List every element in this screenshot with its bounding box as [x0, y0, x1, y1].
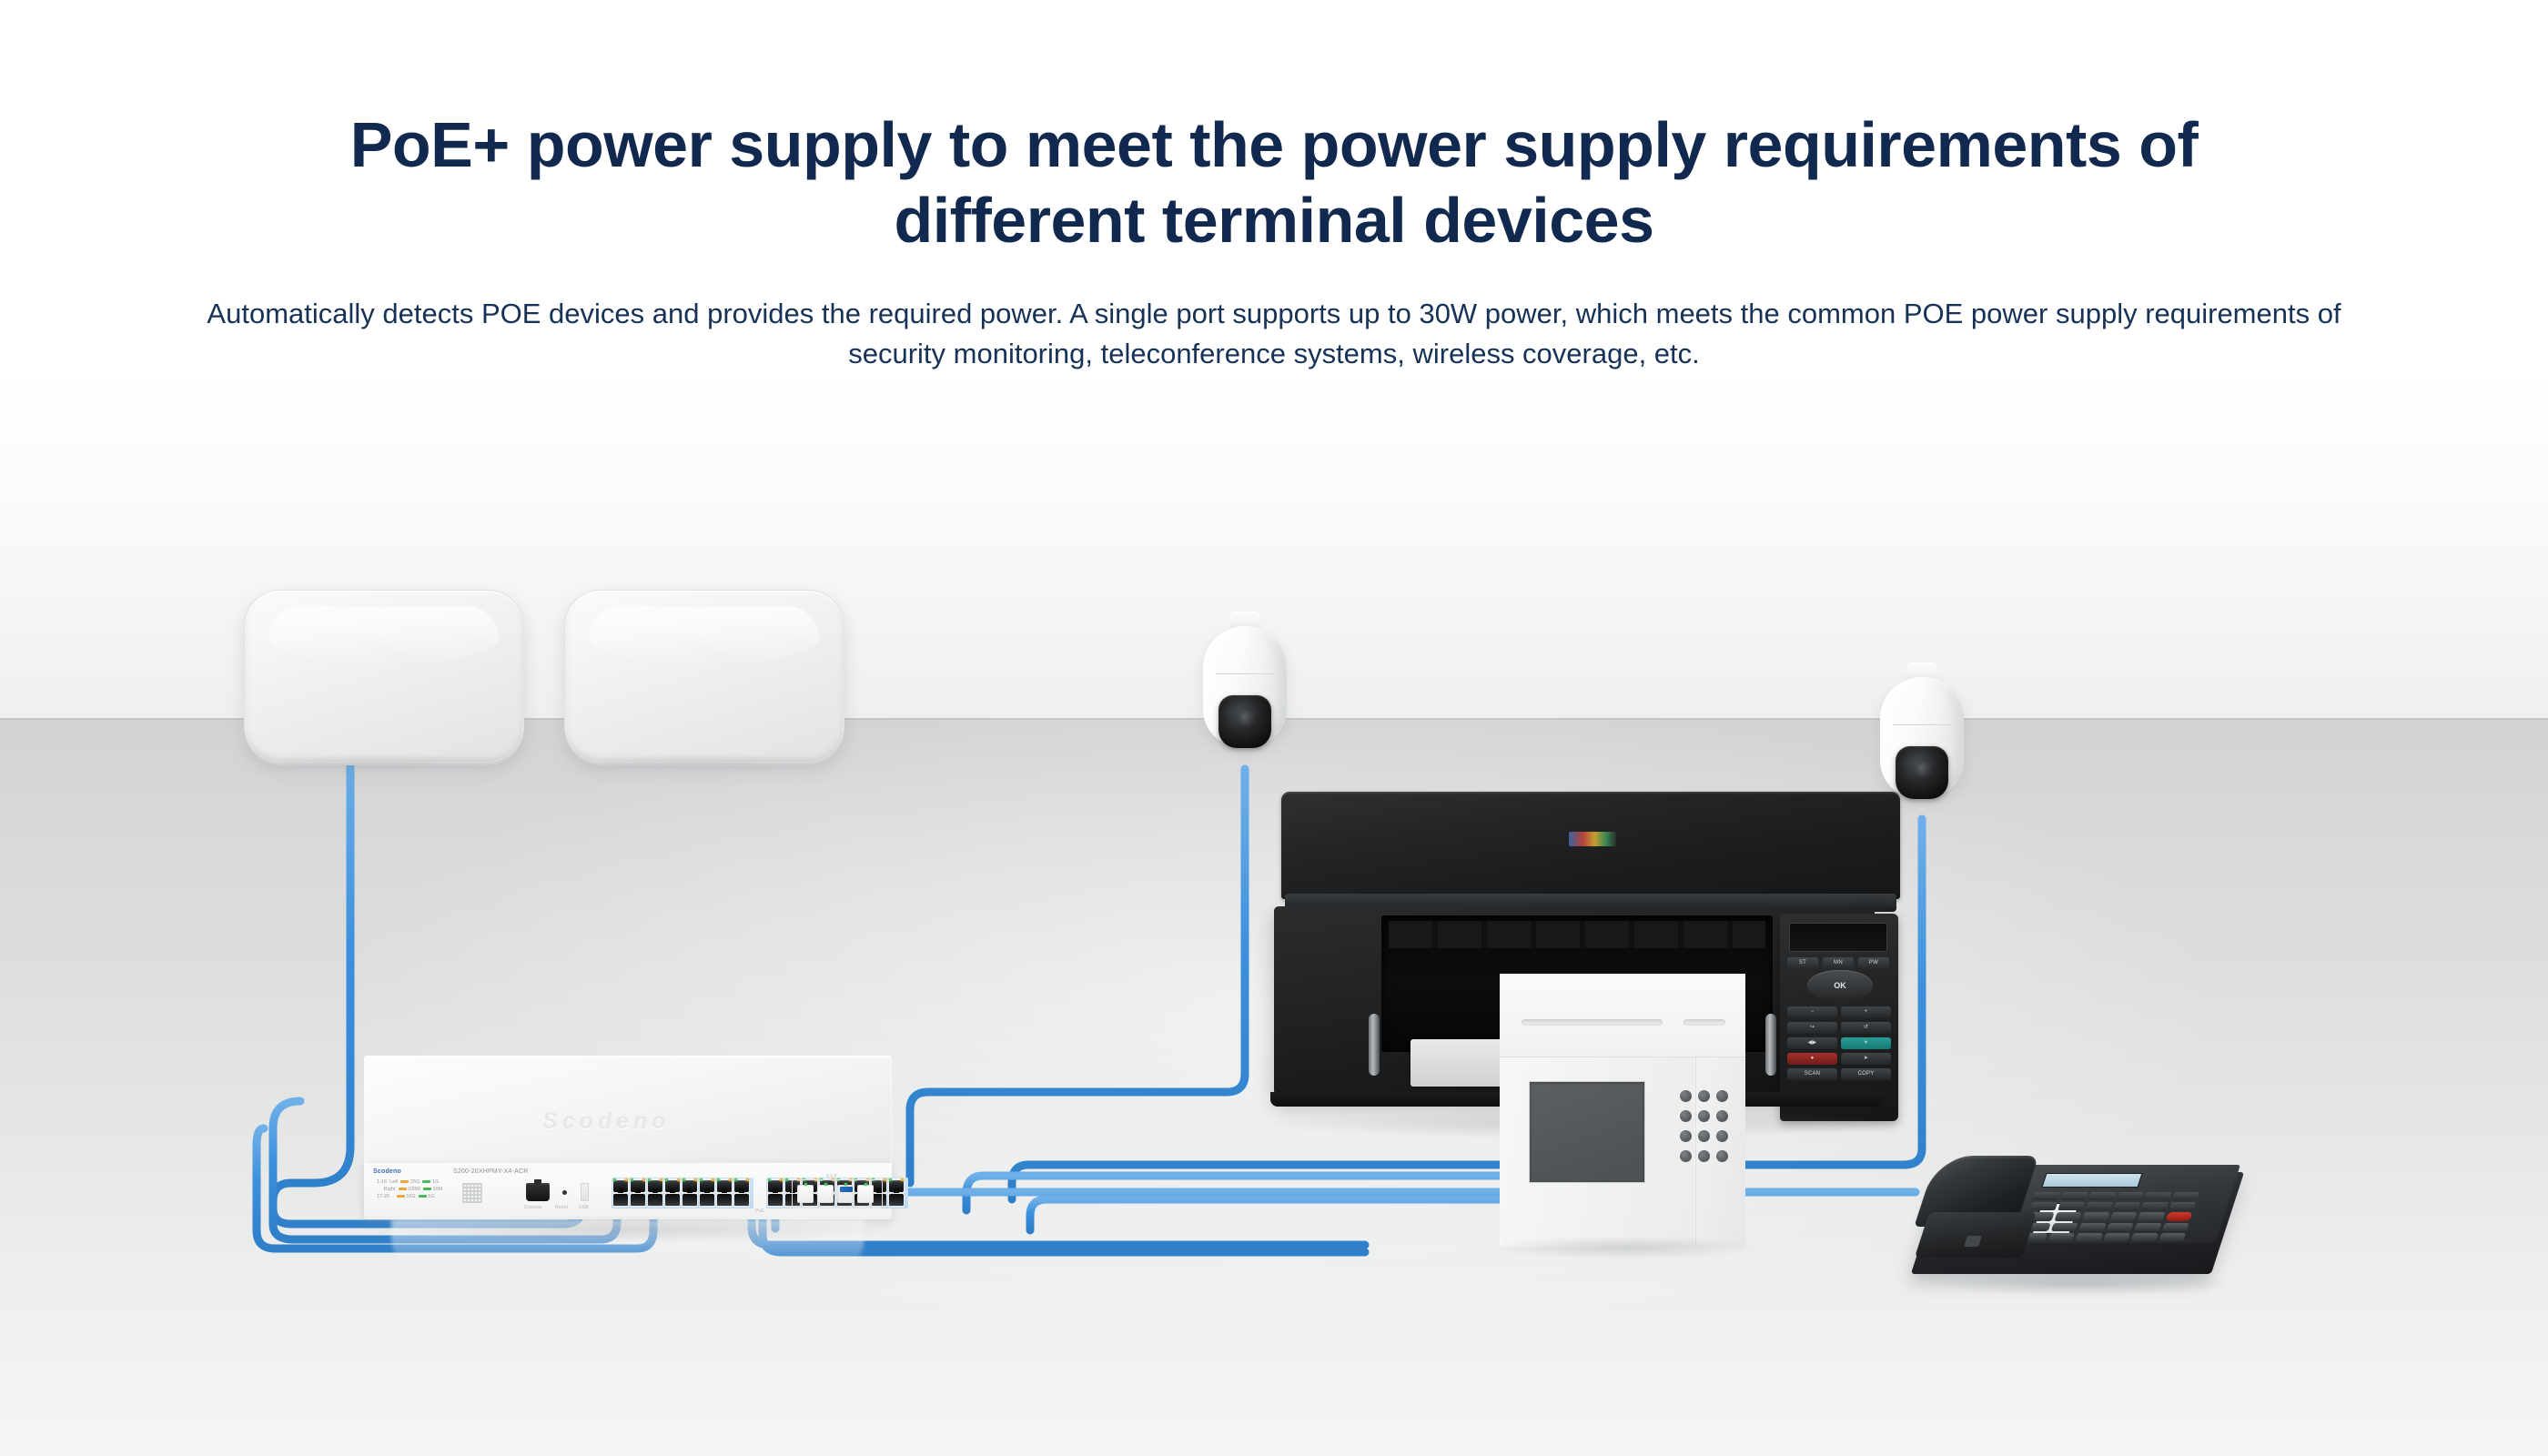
rj45-icon	[613, 1194, 628, 1206]
printer-scanner-lid	[1281, 792, 1900, 899]
port-led-green	[631, 1178, 633, 1181]
terminal-key[interactable]	[1716, 1090, 1728, 1102]
terminal-vent-slot-1	[1522, 1019, 1663, 1026]
port-led-amber	[694, 1178, 697, 1181]
phone-key[interactable]	[2106, 1223, 2133, 1231]
ap-body	[244, 590, 524, 763]
terminal-vent-slot-2	[1683, 1019, 1725, 1026]
printer-ok-dpad[interactable]: OK	[1807, 970, 1873, 1001]
camera-seam	[1216, 673, 1274, 674]
port-led-green	[768, 1178, 771, 1181]
phone-key[interactable]	[2103, 1233, 2130, 1241]
switch-port[interactable]	[612, 1178, 629, 1208]
video-conference-terminal[interactable]	[1500, 974, 1745, 1247]
terminal-screen[interactable]	[1529, 1081, 1645, 1183]
port-led-green	[717, 1178, 720, 1181]
switch-shadow	[355, 1216, 901, 1243]
phone-key[interactable]	[2144, 1192, 2171, 1200]
port-led-amber	[729, 1178, 732, 1181]
phone-keypad[interactable]	[2019, 1192, 2199, 1241]
legend-side-1: Left	[389, 1179, 398, 1185]
printer-key-back[interactable]: ↪	[1787, 1022, 1837, 1034]
phone-key[interactable]	[2138, 1212, 2165, 1220]
sfp-slot-populated[interactable]	[837, 1185, 854, 1203]
printer-key-stop[interactable]: ●	[1787, 1053, 1837, 1065]
rj45-icon	[682, 1180, 697, 1192]
phone-key[interactable]	[2088, 1192, 2116, 1200]
switch-usb-port[interactable]	[581, 1183, 589, 1201]
port-led-green	[700, 1178, 703, 1181]
phone-key[interactable]	[2029, 1202, 2057, 1210]
legend-amber-2: 100M	[408, 1187, 420, 1192]
switch-port[interactable]	[664, 1178, 681, 1208]
legend-chip-green-icon	[423, 1188, 431, 1190]
phone-key[interactable]	[2113, 1202, 2140, 1210]
switch-model-label: S200-20XHPMY-X4-ACR	[453, 1168, 529, 1175]
legend-green-1: 1G	[432, 1179, 439, 1185]
phone-key[interactable]	[2060, 1192, 2088, 1200]
printer-button-st[interactable]: ST	[1787, 957, 1818, 969]
cable-camera1	[910, 769, 1245, 1183]
port-led-amber	[677, 1178, 680, 1181]
ptz-camera-1[interactable]	[1203, 612, 1287, 771]
sfp-slot[interactable]	[797, 1185, 814, 1203]
port-led-amber	[712, 1178, 714, 1181]
phone-key[interactable]	[2050, 1223, 2078, 1231]
printer-brand-logo-icon	[1569, 832, 1616, 846]
terminal-key[interactable]	[1680, 1130, 1692, 1142]
terminal-key[interactable]	[1698, 1130, 1710, 1142]
switch-reset-caption: Reset	[555, 1205, 568, 1210]
phone-key[interactable]	[2161, 1223, 2189, 1231]
port-led-amber	[746, 1178, 749, 1181]
ap-body	[564, 590, 844, 763]
rj45-icon	[665, 1194, 680, 1206]
terminal-key[interactable]	[1680, 1110, 1692, 1122]
phone-key[interactable]	[2078, 1223, 2106, 1231]
port-led-green	[785, 1178, 788, 1181]
phone-key-hangup[interactable]	[2165, 1212, 2192, 1220]
cable-ap1	[273, 746, 350, 1208]
rj45-icon	[631, 1180, 645, 1192]
phone-key[interactable]	[2130, 1233, 2158, 1241]
switch-embossed-brand: Scodeno	[542, 1108, 770, 1134]
terminal-keypad[interactable]	[1680, 1090, 1729, 1162]
switch-port[interactable]	[733, 1178, 750, 1208]
printer-control-panel[interactable]: ST MN PW OK − ↪ ◀▶ ● SCAN + ↺	[1780, 914, 1898, 1121]
phone-key[interactable]	[2140, 1202, 2168, 1210]
switch-chassis-top: Scodeno	[364, 1056, 892, 1165]
wireless-access-point-1[interactable]	[244, 590, 524, 763]
ap1-shadow	[248, 753, 521, 770]
terminal-key[interactable]	[1698, 1150, 1710, 1162]
rj45-icon	[665, 1180, 680, 1192]
legend-chip-amber-icon	[397, 1195, 405, 1198]
phone-key[interactable]	[2082, 1212, 2109, 1220]
rj45-icon	[889, 1180, 904, 1192]
legend-green-3: 1G	[428, 1194, 434, 1199]
phone-key[interactable]	[2075, 1233, 2102, 1241]
switch-port[interactable]	[888, 1178, 905, 1208]
rj45-icon	[682, 1194, 697, 1206]
switch-console-caption: Console	[524, 1205, 542, 1210]
printer-key-refresh[interactable]: ↺	[1841, 1022, 1891, 1034]
switch-port[interactable]	[630, 1178, 646, 1208]
printer-key-arrows[interactable]: ◀▶	[1787, 1037, 1837, 1049]
legend-side-2: Right	[384, 1187, 396, 1192]
port-led-amber	[660, 1178, 662, 1181]
legend-chip-amber-icon	[400, 1180, 409, 1183]
phone-key[interactable]	[2159, 1233, 2186, 1241]
rj45-icon	[768, 1194, 783, 1206]
port-led-green	[648, 1178, 651, 1181]
sfp-slot[interactable]	[817, 1185, 834, 1203]
terminal-top-strip	[1500, 974, 1745, 1057]
port-led-green	[613, 1178, 616, 1181]
terminal-key[interactable]	[1716, 1110, 1728, 1122]
rj45-icon	[734, 1194, 749, 1206]
phone-key[interactable]	[2109, 1212, 2137, 1220]
switch-port[interactable]	[716, 1178, 733, 1208]
sfp-led-green	[824, 1183, 827, 1186]
switch-port[interactable]	[699, 1178, 715, 1208]
phone-key[interactable]	[2116, 1192, 2143, 1200]
printer-key-scan[interactable]: SCAN	[1787, 1068, 1837, 1080]
printer-cavity-slats	[1389, 921, 1765, 948]
switch-port[interactable]	[682, 1178, 698, 1208]
legend-chip-green-icon	[422, 1180, 430, 1183]
ap2-shadow	[568, 753, 841, 770]
port-led-amber	[642, 1178, 645, 1181]
camera-lens-icon	[1218, 695, 1271, 748]
rj45-icon	[613, 1180, 628, 1192]
switch-port[interactable]	[767, 1178, 784, 1208]
printer-lcd-display	[1789, 923, 1887, 952]
port-led-green	[682, 1178, 685, 1181]
port-led-green	[889, 1178, 892, 1181]
printer-key-minus[interactable]: −	[1787, 1006, 1837, 1018]
sfp-led-green	[844, 1183, 847, 1186]
switch-usb-caption: USB	[579, 1205, 589, 1210]
rj45-icon	[889, 1194, 904, 1206]
sfp-slot[interactable]	[857, 1185, 874, 1203]
legend-ports-1: 1-16	[377, 1179, 387, 1185]
phone-key[interactable]	[2134, 1223, 2161, 1231]
legend-green-2: 10M	[432, 1187, 442, 1192]
printer-keypad-left-column: − ↪ ◀▶ ● SCAN	[1787, 1006, 1837, 1080]
legend-chip-green-icon	[419, 1195, 427, 1198]
printer-key-plus[interactable]: +	[1841, 1006, 1891, 1018]
terminal-key[interactable]	[1716, 1150, 1728, 1162]
printer-keypad[interactable]: − ↪ ◀▶ ● SCAN + ↺ ✶ ➤ COPY	[1787, 1006, 1891, 1080]
phone-key[interactable]	[2047, 1233, 2075, 1241]
port-led-green	[665, 1178, 668, 1181]
phone-shadow	[1920, 1272, 2239, 1296]
switch-reset-button[interactable]	[562, 1190, 567, 1195]
rj45-icon	[700, 1194, 714, 1206]
printer-key-copy[interactable]: COPY	[1841, 1068, 1891, 1080]
terminal-key[interactable]	[1698, 1090, 1710, 1102]
printer-handle-left[interactable]	[1369, 1014, 1380, 1076]
terminal-key[interactable]	[1716, 1130, 1728, 1142]
printer-keypad-right-column: + ↺ ✶ ➤ COPY	[1841, 1006, 1891, 1080]
camera-seam	[1893, 724, 1951, 725]
printer-key-feed[interactable]: ➤	[1841, 1053, 1891, 1065]
printer-handle-right[interactable]	[1765, 1014, 1776, 1076]
legend-amber-3: 10G	[406, 1194, 415, 1199]
legend-chip-amber-icon	[399, 1188, 407, 1190]
printer-key-color[interactable]: ✶	[1841, 1037, 1891, 1049]
switch-brand-label: Scodeno	[373, 1168, 401, 1175]
port-led-amber	[780, 1178, 783, 1181]
terminal-key[interactable]	[1680, 1150, 1692, 1162]
phone-key[interactable]	[2033, 1192, 2060, 1200]
legend-ports-3: 17-20	[377, 1194, 389, 1199]
port-led-green	[734, 1178, 737, 1181]
ip-desk-phone[interactable]	[1927, 1148, 2228, 1285]
phone-key[interactable]	[2169, 1202, 2196, 1210]
switch-front-panel: Scodeno S200-20XHPMY-X4-ACR 1-16 Left 25…	[364, 1163, 892, 1219]
switch-qr-code-icon	[462, 1183, 482, 1203]
sfp-led-green	[804, 1183, 807, 1186]
phone-key[interactable]	[2171, 1192, 2199, 1200]
sfp-led-green	[864, 1183, 867, 1186]
terminal-key[interactable]	[1698, 1110, 1710, 1122]
rj45-icon	[717, 1180, 732, 1192]
switch-sfp-group[interactable]	[792, 1179, 883, 1208]
port-led-amber	[625, 1178, 628, 1181]
diagram-stage: PoE+ power supply to meet the power supp…	[0, 0, 2548, 1456]
printer-top-button-row[interactable]: ST MN PW	[1787, 957, 1889, 969]
printer-button-pw[interactable]: PW	[1858, 957, 1889, 969]
legend-amber-1: 25G	[410, 1179, 420, 1185]
phone-lcd-display	[2041, 1173, 2142, 1188]
terminal-shadow	[1489, 1236, 1762, 1259]
rj45-icon	[700, 1180, 714, 1192]
rj45-icon	[734, 1180, 749, 1192]
rj45-icon	[631, 1194, 645, 1206]
printer-button-mn[interactable]: MN	[1823, 957, 1854, 969]
wireless-access-point-2[interactable]	[564, 590, 844, 763]
phone-handset[interactable]	[1922, 1156, 2033, 1265]
switch-rj45-group-1[interactable]	[612, 1178, 753, 1208]
port-led-amber	[884, 1178, 886, 1181]
phone-key[interactable]	[2058, 1202, 2085, 1210]
phone-key[interactable]	[2085, 1202, 2112, 1210]
rj45-icon	[648, 1180, 662, 1192]
switch-poe-caption: PoE	[755, 1208, 764, 1214]
rj45-icon	[717, 1194, 732, 1206]
handset-cradle	[1915, 1212, 2037, 1258]
rj45-icon	[768, 1180, 783, 1192]
poe-network-switch[interactable]: Scodeno Scodeno S200-20XHPMY-X4-ACR 1-16…	[364, 1056, 892, 1238]
terminal-key[interactable]	[1680, 1090, 1692, 1102]
port-led-amber	[901, 1178, 904, 1181]
rj45-icon	[648, 1194, 662, 1206]
switch-port[interactable]	[647, 1178, 663, 1208]
phone-key[interactable]	[2054, 1212, 2081, 1220]
switch-console-port[interactable]	[526, 1183, 550, 1201]
switch-led-legend: 1-16 Left 25G 1G Right 100M 10M 17-20	[377, 1178, 442, 1200]
